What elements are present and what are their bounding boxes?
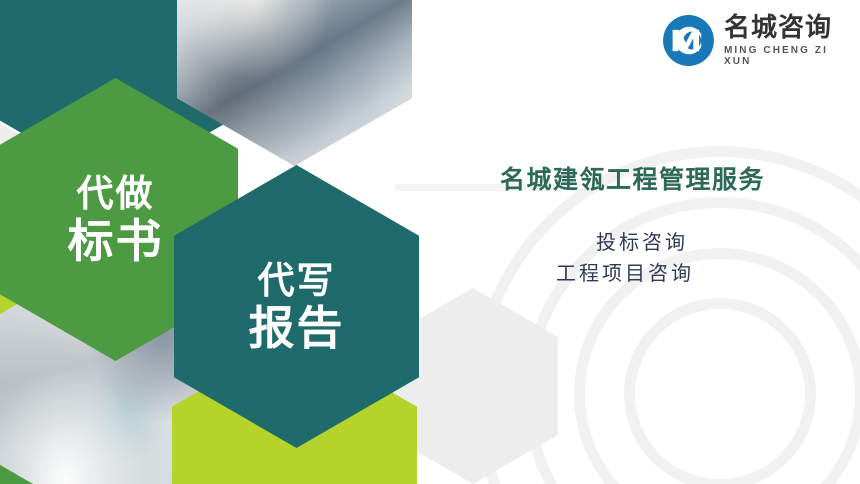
hex-green-line2: 标书	[68, 217, 164, 266]
subtitle-line-2: 工程项目咨询	[460, 259, 790, 290]
hex-teal-line1: 代写	[258, 261, 336, 300]
subtitle-line-1: 投标咨询	[460, 228, 790, 259]
logo-company-name: 名城咨询	[724, 14, 860, 41]
logo-text-block: 名城咨询 MING CHENG ZI XUN	[724, 14, 860, 66]
promotional-banner: 代做 标书 代写 报告 名城咨询 MING CHENG ZI XUN 名城建瓴工…	[0, 0, 860, 484]
company-logo[interactable]: 名城咨询 MING CHENG ZI XUN	[662, 14, 860, 67]
logo-company-pinyin: MING CHENG ZI XUN	[724, 45, 860, 67]
subtitle-block: 投标咨询 工程项目咨询	[460, 228, 790, 290]
page-title: 名城建瓴工程管理服务	[500, 160, 765, 196]
hex-green-line1: 代做	[77, 174, 155, 213]
mc-monogram-icon	[662, 14, 715, 67]
hex-teal-line2: 报告	[249, 304, 345, 353]
